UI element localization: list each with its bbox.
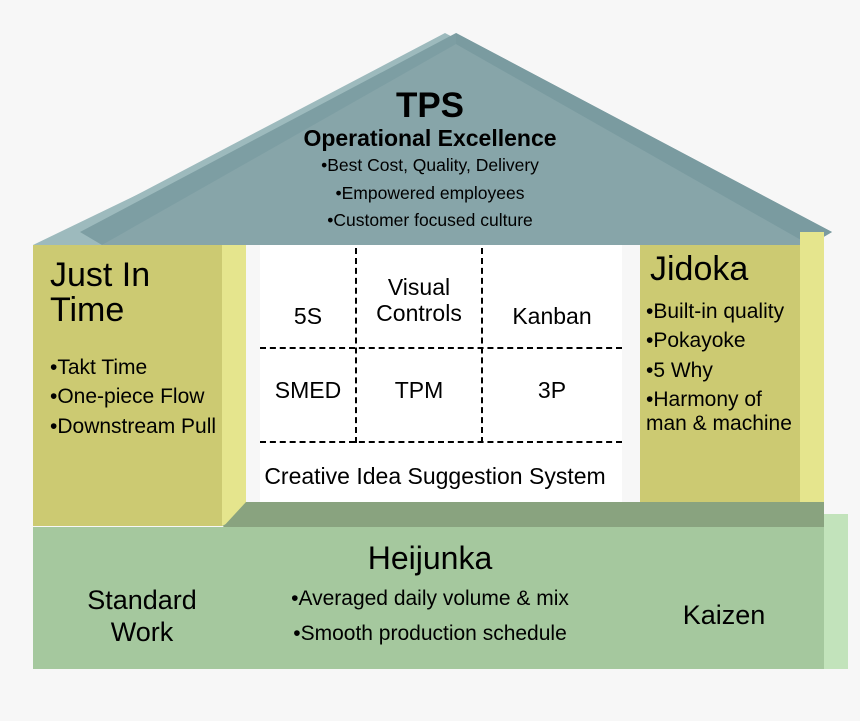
right-pillar-bullet-harmony: •Harmony of man & machine [646,388,806,437]
grid-divider-horizontal-2 [260,441,622,443]
tool-cell-visual-controls: Visual Controls [358,274,480,326]
foundation-title: Heijunka [270,540,590,577]
left-pillar-title: Just In Time [50,258,220,329]
right-pillar-bullets: •Built-in quality •Pokayoke •5 Why •Harm… [646,300,806,442]
foundation-top-face [246,502,824,528]
right-pillar-bullet-pokayoke: •Pokayoke [646,329,806,353]
grid-divider-vertical-1 [355,248,357,443]
right-pillar-title: Jidoka [650,252,800,287]
foundation-bullet-averaged-volume: •Averaged daily volume & mix [240,588,620,609]
tps-house-diagram: TPS Operational Excellence •Best Cost, Q… [0,0,860,721]
foundation-bullet-smooth-schedule: •Smooth production schedule [240,623,620,644]
roof-text-block: TPS Operational Excellence •Best Cost, Q… [200,88,660,240]
left-pillar-bullets: •Takt Time •One-piece Flow •Downstream P… [50,356,226,444]
tool-cell-smed: SMED [262,377,354,403]
grid-divider-vertical-2 [481,248,483,443]
right-pillar-bullet-built-in-quality: •Built-in quality [646,300,806,324]
grid-divider-horizontal-1 [260,347,622,349]
roof-bullet-employees: •Empowered employees [200,185,660,203]
tool-cell-kanban: Kanban [484,303,620,329]
left-pillar-bullet-downstream-pull: •Downstream Pull [50,415,226,439]
roof-bullet-culture: •Customer focused culture [200,212,660,230]
creative-idea-suggestion-system-label: Creative Idea Suggestion System [248,463,622,489]
roof-title: TPS [200,88,660,123]
left-pillar-bullet-one-piece-flow: •One-piece Flow [50,385,226,409]
tool-cell-tpm: TPM [358,377,480,403]
roof-bullet-cost: •Best Cost, Quality, Delivery [200,157,660,175]
roof-subtitle: Operational Excellence [200,127,660,150]
tool-cell-5s: 5S [262,303,354,329]
right-pillar-bullet-5-why: •5 Why [646,359,806,383]
foundation-left-label: Standard Work [52,585,232,649]
foundation-right-label: Kaizen [640,600,808,632]
foundation-bullets: •Averaged daily volume & mix •Smooth pro… [240,588,620,658]
foundation-side-face [824,514,848,669]
left-pillar-bullet-takt-time: •Takt Time [50,356,226,380]
tool-cell-3p: 3P [484,377,620,403]
